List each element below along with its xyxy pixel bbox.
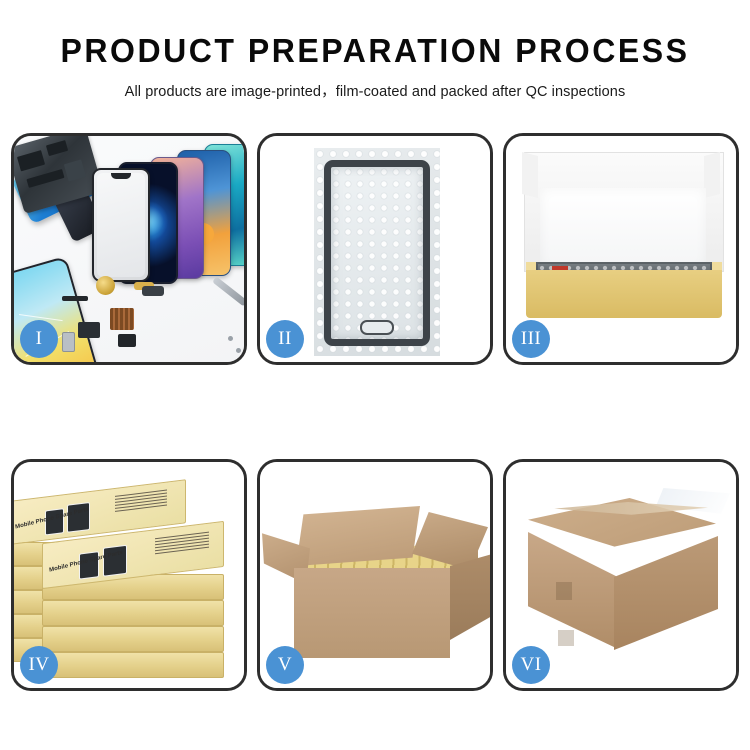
kraft-box-stacked (42, 652, 224, 678)
sim-tray-part (62, 332, 75, 352)
tweezers-tool (212, 276, 244, 306)
screw-part (228, 336, 233, 341)
step-panel-6: VI (503, 459, 739, 691)
step-badge-6: VI (512, 646, 550, 684)
header: PRODUCT PREPARATION PROCESS All products… (0, 0, 750, 101)
home-button (360, 320, 394, 335)
board-chip (46, 140, 68, 156)
step-panel-1: I (11, 133, 247, 365)
step-badge-3: III (512, 320, 550, 358)
page-title: PRODUCT PREPARATION PROCESS (11, 34, 739, 67)
vibrator-motor-part (78, 322, 100, 338)
loudspeaker-part (142, 286, 164, 296)
kraft-box-stacked (42, 626, 224, 652)
box-art-phone (103, 545, 127, 577)
step-badge-5: V (266, 646, 304, 684)
bubble-wrap-sheet (314, 148, 440, 356)
box-spec-lines (115, 490, 167, 514)
step-panel-2: II (257, 133, 493, 365)
box-lid-right-flap (704, 152, 720, 198)
phone-white (92, 168, 150, 282)
phone-screen (97, 173, 145, 277)
kraft-box-front (526, 270, 722, 318)
step-badge-4: IV (20, 646, 58, 684)
wrapped-screen-glass (324, 160, 430, 346)
earpiece-mesh-part (62, 296, 88, 301)
white-foam-padding (540, 188, 706, 270)
box-lid-left-flap (522, 152, 538, 198)
page-subtitle: All products are image-printed，film-coat… (0, 80, 750, 101)
box-spec-lines (155, 532, 209, 557)
step-panel-4: Mobile Phone Spare Parts Mobile Phone Sp… (11, 459, 247, 691)
carton-back-flap (296, 506, 420, 566)
camera-module-part (118, 334, 136, 347)
step-panel-5: V (257, 459, 493, 691)
screw-part (236, 348, 241, 353)
carton-hand-hole (558, 630, 574, 646)
step-badge-2: II (266, 320, 304, 358)
board-chip (17, 150, 45, 171)
step-badge-1: I (20, 320, 58, 358)
kraft-box-stacked (42, 600, 224, 626)
board-chip (64, 160, 86, 182)
carton-hand-hole (556, 582, 572, 600)
step-panel-3: III (503, 133, 739, 365)
carton-front-face (294, 568, 450, 658)
red-marker-label (552, 266, 568, 270)
process-steps-grid: I II (0, 133, 750, 691)
connector-grid-part (110, 308, 134, 330)
product-preparation-infographic: PRODUCT PREPARATION PROCESS All products… (0, 0, 750, 750)
speaker-coil-part (96, 276, 115, 295)
board-chip (27, 170, 64, 188)
phone-notch (111, 173, 131, 179)
carton-side-face (450, 554, 490, 640)
carton-right-face (614, 536, 718, 650)
